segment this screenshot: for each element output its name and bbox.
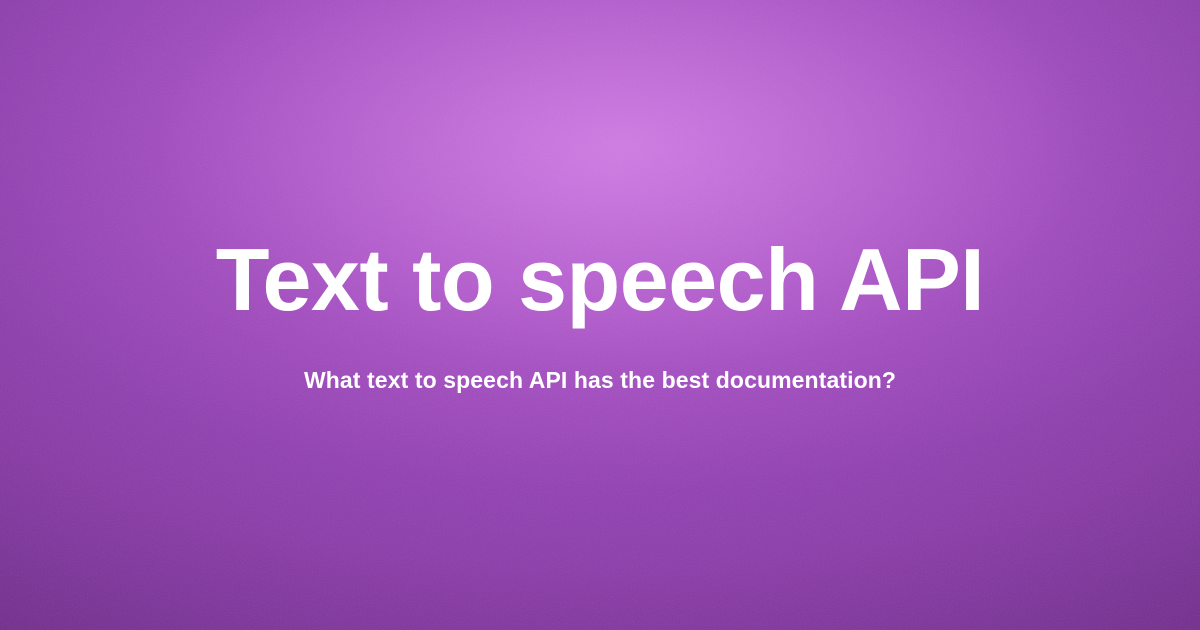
card-content: Text to speech API What text to speech A… (0, 0, 1200, 630)
page-subtitle: What text to speech API has the best doc… (304, 366, 896, 395)
og-social-card: Text to speech API What text to speech A… (0, 0, 1200, 630)
page-title: Text to speech API (216, 236, 985, 324)
